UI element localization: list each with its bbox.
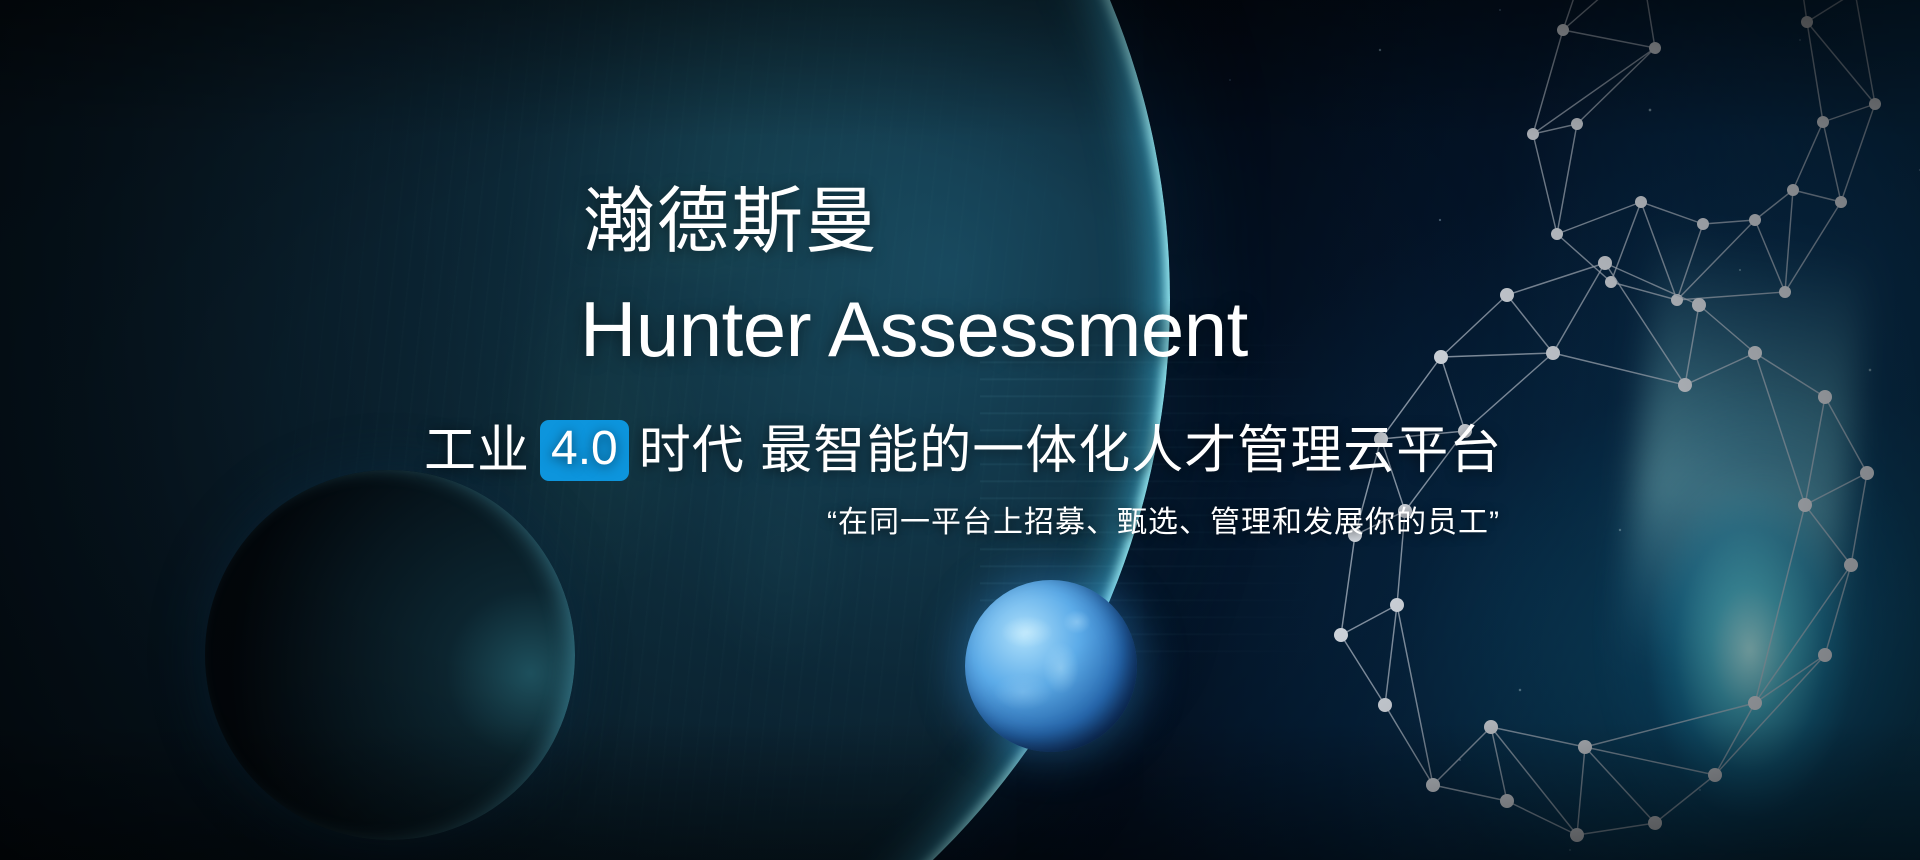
- tagline-prefix: 工业: [424, 425, 530, 477]
- tagline-suffix: 时代 最智能的一体化人才管理云平台: [639, 425, 1502, 477]
- version-badge: 4.0: [540, 420, 629, 481]
- hero-banner: 瀚德斯曼 Hunter Assessment 工业 4.0 时代 最智能的一体化…: [0, 0, 1920, 860]
- brand-name-english: Hunter Assessment: [580, 290, 1248, 368]
- tagline: 工业 4.0 时代 最智能的一体化人才管理云平台: [424, 420, 1502, 481]
- hero-copy-block: 瀚德斯曼 Hunter Assessment 工业 4.0 时代 最智能的一体化…: [0, 0, 1920, 860]
- tagline-quote: “在同一平台上招募、甄选、管理和发展你的员工”: [0, 508, 1500, 538]
- brand-name-chinese: 瀚德斯曼: [583, 186, 879, 258]
